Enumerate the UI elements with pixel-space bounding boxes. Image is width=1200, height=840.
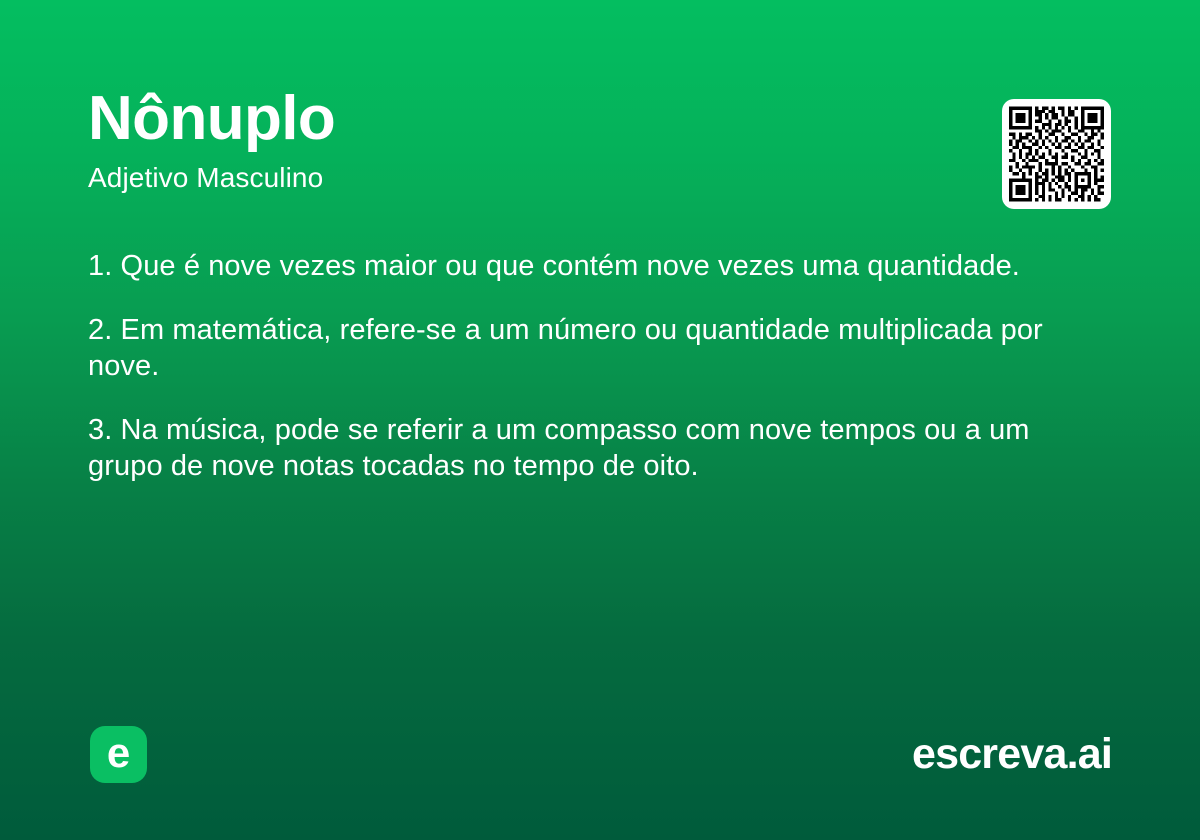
brand-logo: e [90, 726, 147, 783]
brand-logo-letter: e [90, 726, 147, 783]
qr-code-card[interactable] [1002, 99, 1111, 209]
definition-item: 2. Em matemática, refere-se a um número … [88, 312, 1098, 384]
qr-code-icon [1009, 106, 1104, 202]
definition-item: 1. Que é nove vezes maior ou que contém … [88, 248, 1098, 284]
page-title: Nônuplo [88, 86, 968, 153]
definition-card: Nônuplo Adjetivo Masculino [0, 0, 1200, 840]
card-footer: e escreva.ai [0, 726, 1200, 786]
definition-item: 3. Na música, pode se referir a um compa… [88, 412, 1098, 484]
brand-name: escreva.ai [912, 724, 1112, 784]
definitions-list: 1. Que é nove vezes maior ou que contém … [88, 248, 1098, 484]
word-class-label: Adjetivo Masculino [88, 161, 968, 195]
card-header: Nônuplo Adjetivo Masculino [88, 86, 968, 195]
